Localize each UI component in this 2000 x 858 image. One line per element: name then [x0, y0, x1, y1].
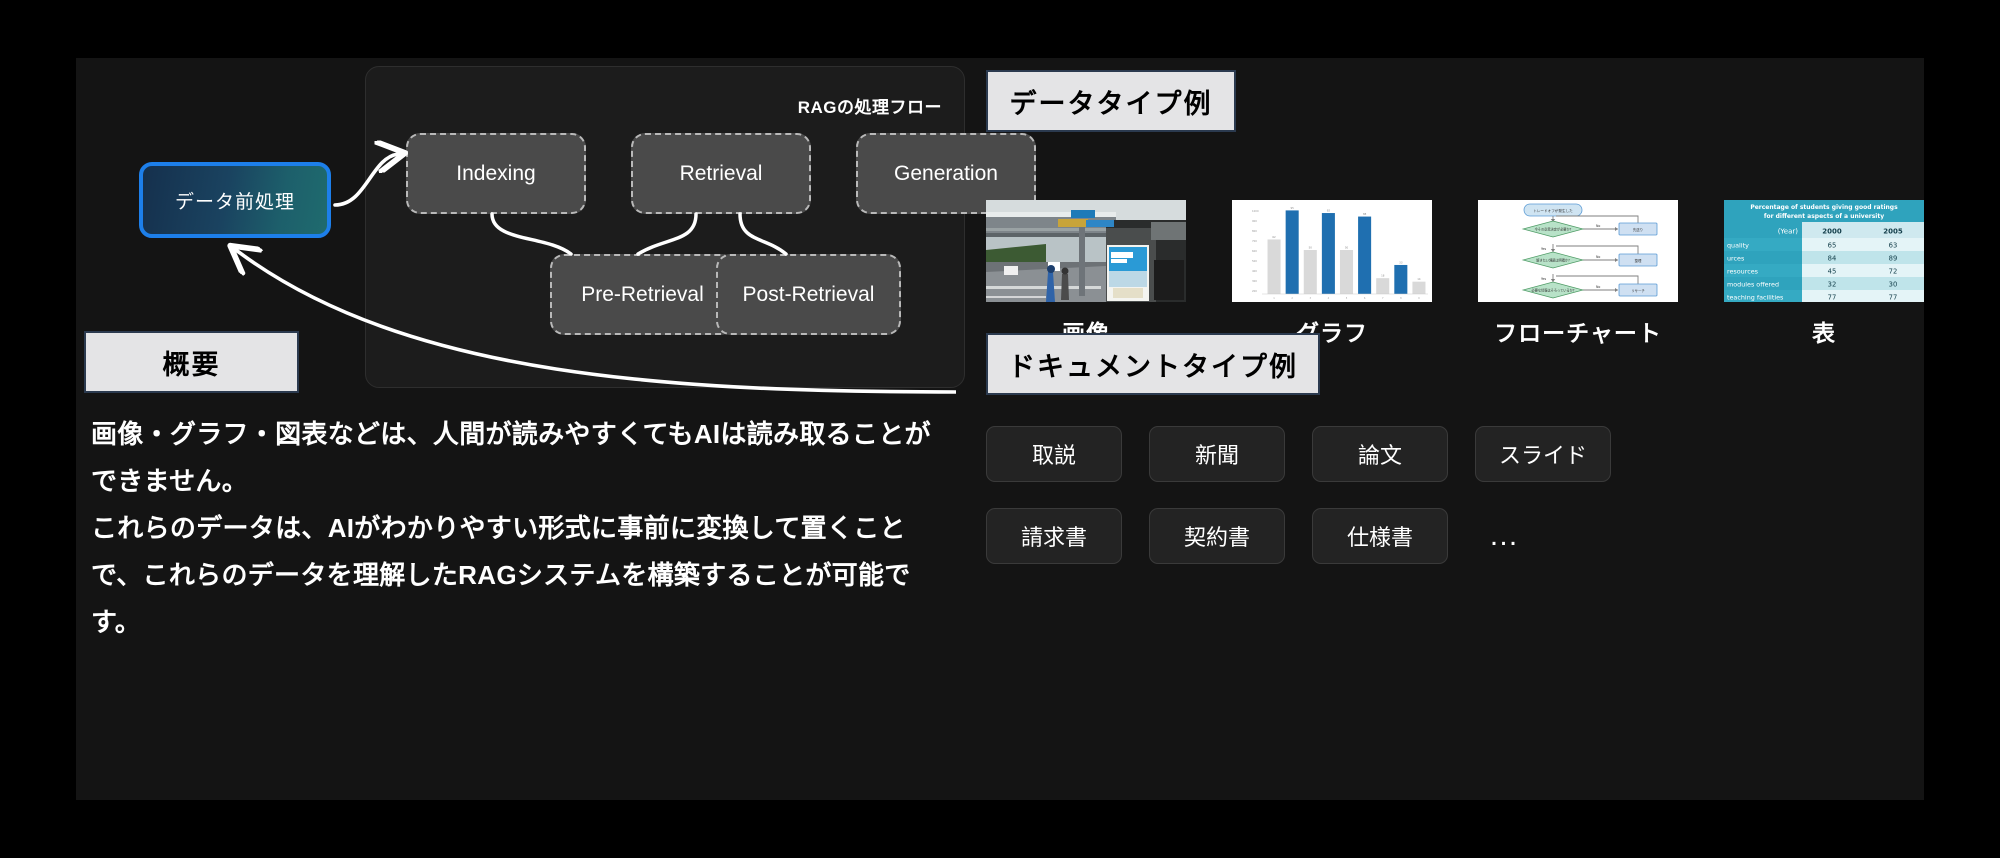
- data-type-item-flowchart[interactable]: トレードオフが発生した 今その意思決定が必要か?: [1478, 200, 1678, 348]
- doc-type-row-1: 取説 新聞 論文 スライド: [986, 426, 1746, 482]
- overview-text: 画像・グラフ・図表などは、人間が読みやすくてもAIは読み取ることができません。 …: [91, 411, 946, 646]
- svg-text:2005: 2005: [1883, 228, 1903, 236]
- svg-text:77: 77: [1828, 294, 1837, 302]
- svg-text:32: 32: [1828, 281, 1837, 289]
- street-photo-thumbnail: [986, 200, 1186, 302]
- svg-text:900: 900: [1252, 219, 1257, 223]
- flowchart-thumbnail: トレードオフが発生した 今その意思決定が必要か?: [1478, 200, 1678, 302]
- data-type-thumbnails: 画像 621952503924505886187338149 1000900 8…: [986, 200, 1924, 340]
- doc-chip-manual[interactable]: 取説: [986, 426, 1122, 482]
- svg-text:トレードオフが発生した: トレードオフが発生した: [1533, 208, 1573, 213]
- svg-text:50: 50: [1309, 246, 1313, 250]
- svg-text:urces: urces: [1727, 255, 1745, 263]
- svg-text:整理: 整理: [1635, 258, 1642, 263]
- table-thumbnail: Percentage of students giving good ratin…: [1724, 200, 1924, 302]
- doc-chip-paper[interactable]: 論文: [1312, 426, 1448, 482]
- slide-card: RAGの処理フロー Indexing Retrieval Generation …: [76, 58, 1924, 800]
- flow-node-indexing[interactable]: Indexing: [406, 133, 586, 214]
- svg-text:92: 92: [1327, 209, 1331, 213]
- svg-text:63: 63: [1889, 242, 1898, 250]
- svg-text:400: 400: [1252, 269, 1257, 273]
- data-type-label-flowchart: フローチャート: [1478, 314, 1678, 348]
- svg-text:33: 33: [1399, 260, 1403, 264]
- svg-text:65: 65: [1828, 242, 1837, 250]
- doc-type-chips: 取説 新聞 論文 スライド 請求書 契約書 仕様書 …: [986, 426, 1746, 590]
- svg-text:No: No: [1596, 285, 1600, 289]
- svg-text:必要な情報はそろっているか?: 必要な情報はそろっているか?: [1532, 288, 1575, 293]
- overview-line-1: 画像・グラフ・図表などは、人間が読みやすくてもAIは読み取ることができません。: [91, 411, 946, 505]
- svg-text:300: 300: [1252, 279, 1257, 283]
- data-type-label-table: 表: [1724, 314, 1924, 348]
- svg-text:1000: 1000: [1252, 209, 1259, 213]
- rag-flow-title: RAGの処理フロー: [798, 93, 942, 118]
- svg-text:quality: quality: [1727, 242, 1749, 250]
- overview-heading: 概要: [84, 331, 299, 393]
- svg-text:30: 30: [1889, 281, 1898, 289]
- doc-chip-ellipsis: …: [1475, 508, 1535, 564]
- doc-chip-spec[interactable]: 仕様書: [1312, 508, 1448, 564]
- svg-text:Yes: Yes: [1541, 277, 1546, 281]
- svg-text:89: 89: [1889, 255, 1898, 263]
- svg-text:解きたい課題は明確か?: 解きたい課題は明確か?: [1536, 258, 1570, 263]
- svg-text:先送り: 先送り: [1633, 227, 1643, 232]
- svg-text:No: No: [1596, 255, 1600, 259]
- svg-text:No: No: [1596, 224, 1600, 228]
- svg-text:95: 95: [1291, 206, 1295, 210]
- doc-chip-contract[interactable]: 契約書: [1149, 508, 1285, 564]
- flow-node-retrieval[interactable]: Retrieval: [631, 133, 811, 214]
- svg-text:72: 72: [1889, 268, 1898, 276]
- svg-text:600: 600: [1252, 249, 1257, 253]
- rag-flow-panel: RAGの処理フロー Indexing Retrieval Generation …: [365, 66, 965, 388]
- svg-text:200: 200: [1252, 289, 1257, 293]
- svg-text:77: 77: [1889, 294, 1898, 302]
- svg-text:2000: 2000: [1822, 228, 1842, 236]
- flow-node-post-retrieval[interactable]: Post-Retrieval: [716, 254, 901, 335]
- svg-text:88: 88: [1363, 212, 1367, 216]
- bar-chart-thumbnail: 621952503924505886187338149 1000900 8007…: [1232, 200, 1432, 302]
- svg-text:(Year): (Year): [1778, 228, 1799, 236]
- svg-text:teaching facilities: teaching facilities: [1727, 294, 1784, 302]
- right-column: データタイプ例: [986, 58, 1924, 800]
- svg-text:14: 14: [1417, 277, 1421, 281]
- preprocess-node[interactable]: データ前処理: [139, 162, 331, 238]
- doc-type-row-2: 請求書 契約書 仕様書 …: [986, 508, 1746, 564]
- doc-chip-invoice[interactable]: 請求書: [986, 508, 1122, 564]
- data-type-item-table[interactable]: Percentage of students giving good ratin…: [1724, 200, 1924, 348]
- svg-text:18: 18: [1381, 274, 1385, 278]
- doc-chip-newspaper[interactable]: 新聞: [1149, 426, 1285, 482]
- svg-text:45: 45: [1828, 268, 1837, 276]
- svg-text:800: 800: [1252, 229, 1257, 233]
- doc-chip-slide[interactable]: スライド: [1475, 426, 1611, 482]
- svg-text:今その意思決定が必要か?: 今その意思決定が必要か?: [1535, 227, 1572, 232]
- svg-text:50: 50: [1345, 246, 1349, 250]
- doc-type-heading: ドキュメントタイプ例: [986, 333, 1320, 395]
- svg-text:for different aspects of a uni: for different aspects of a university: [1764, 213, 1884, 220]
- svg-text:Percentage of students giving: Percentage of students giving good ratin…: [1750, 204, 1898, 211]
- data-type-item-image[interactable]: 画像: [986, 200, 1186, 348]
- data-type-item-graph[interactable]: 621952503924505886187338149 1000900 8007…: [1232, 200, 1432, 348]
- flow-node-pre-retrieval[interactable]: Pre-Retrieval: [550, 254, 735, 335]
- svg-text:84: 84: [1828, 255, 1837, 263]
- svg-text:resources: resources: [1727, 268, 1759, 276]
- svg-text:modules offered: modules offered: [1727, 281, 1779, 289]
- data-type-heading: データタイプ例: [986, 70, 1236, 132]
- svg-text:500: 500: [1252, 259, 1257, 263]
- svg-text:62: 62: [1272, 235, 1276, 239]
- overview-line-2: これらのデータは、AIがわかりやすい形式に事前に変換して置くことで、これらのデー…: [91, 505, 946, 646]
- left-column: RAGの処理フロー Indexing Retrieval Generation …: [76, 58, 956, 800]
- svg-text:Yes: Yes: [1541, 247, 1546, 251]
- svg-text:700: 700: [1252, 239, 1257, 243]
- svg-text:リサーチ: リサーチ: [1631, 288, 1645, 293]
